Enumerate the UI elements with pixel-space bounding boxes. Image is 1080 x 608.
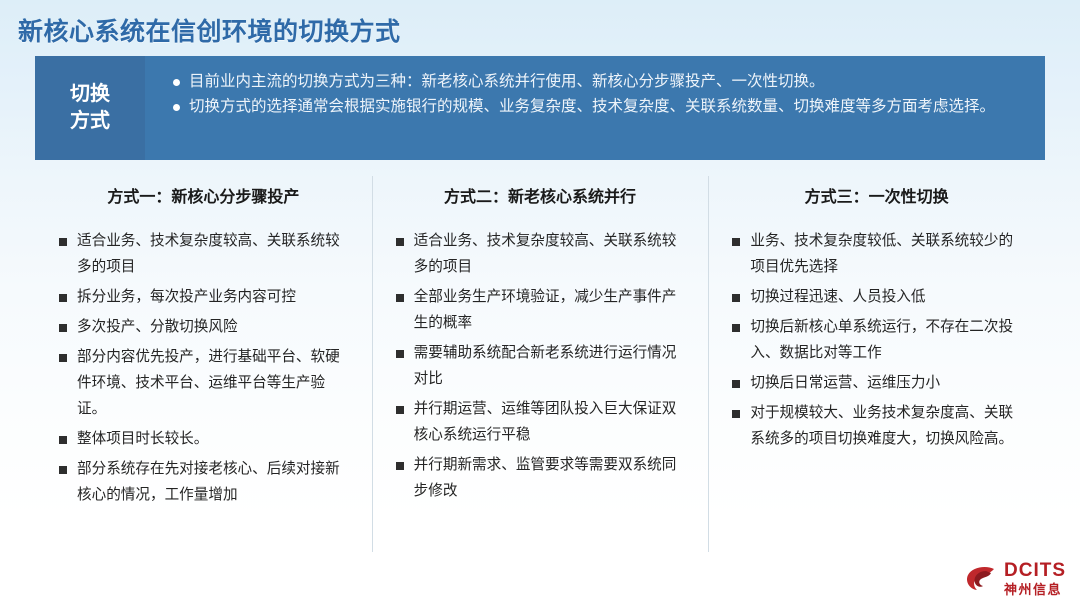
logo-name-cn: 神州信息 [1004,583,1066,596]
list-item: 切换后日常运营、运维压力小 [732,371,1027,397]
bullet-square-icon [59,466,67,474]
banner-bullet-text: 切换方式的选择通常会根据实施银行的规模、业务复杂度、技术复杂度、关联系统数量、切… [189,95,1025,119]
method-column-2: 方式二：新老核心系统并行 适合业务、技术复杂度较高、关联系统较多的项目 全部业务… [372,176,709,556]
column-bullet-list: 适合业务、技术复杂度较高、关联系统较多的项目 拆分业务，每次投产业务内容可控 多… [49,229,358,509]
bullet-square-icon [396,406,404,414]
list-item: 需要辅助系统配合新老系统进行运行情况对比 [396,341,691,393]
banner-bullet-text: 目前业内主流的切换方式为三种：新老核心系统并行使用、新核心分步骤投产、一次性切换… [189,70,1025,94]
bullet-dot-icon [173,104,180,111]
list-item: 部分系统存在先对接老核心、后续对接新核心的情况，工作量增加 [59,457,354,509]
list-item-text: 多次投产、分散切换风险 [77,315,354,341]
list-item: 业务、技术复杂度较低、关联系统较少的项目优先选择 [732,229,1027,281]
list-item-text: 部分系统存在先对接老核心、后续对接新核心的情况，工作量增加 [77,457,354,509]
bullet-square-icon [396,350,404,358]
list-item-text: 部分内容优先投产，进行基础平台、软硬件环境、技术平台、运维平台等生产验证。 [77,345,354,423]
bullet-square-icon [59,294,67,302]
column-heading: 方式一：新核心分步骤投产 [49,176,358,229]
column-bullet-list: 适合业务、技术复杂度较高、关联系统较多的项目 全部业务生产环境验证，减少生产事件… [386,229,695,505]
method-column-1: 方式一：新核心分步骤投产 适合业务、技术复杂度较高、关联系统较多的项目 拆分业务… [35,176,372,556]
methods-columns: 方式一：新核心分步骤投产 适合业务、技术复杂度较高、关联系统较多的项目 拆分业务… [35,176,1045,556]
list-item-text: 并行期新需求、监管要求等需要双系统同步修改 [414,453,691,505]
list-item-text: 切换过程迅速、人员投入低 [750,285,1027,311]
bullet-square-icon [396,294,404,302]
list-item-text: 适合业务、技术复杂度较高、关联系统较多的项目 [414,229,691,281]
list-item: 并行期运营、运维等团队投入巨大保证双核心系统运行平稳 [396,397,691,449]
banner-label: 切换 方式 [35,56,145,160]
list-item: 部分内容优先投产，进行基础平台、软硬件环境、技术平台、运维平台等生产验证。 [59,345,354,423]
list-item-text: 整体项目时长较长。 [77,427,354,453]
bullet-square-icon [732,380,740,388]
banner-bullet-item: 目前业内主流的切换方式为三种：新老核心系统并行使用、新核心分步骤投产、一次性切换… [173,70,1025,94]
banner-label-line-2: 方式 [70,108,110,135]
logo-name-en: DCITS [1004,561,1066,580]
bullet-square-icon [732,324,740,332]
column-heading: 方式三：一次性切换 [722,176,1031,229]
list-item-text: 业务、技术复杂度较低、关联系统较少的项目优先选择 [750,229,1027,281]
list-item-text: 切换后日常运营、运维压力小 [750,371,1027,397]
list-item: 拆分业务，每次投产业务内容可控 [59,285,354,311]
list-item-text: 并行期运营、运维等团队投入巨大保证双核心系统运行平稳 [414,397,691,449]
bullet-square-icon [396,462,404,470]
bullet-square-icon [396,238,404,246]
list-item: 切换过程迅速、人员投入低 [732,285,1027,311]
switch-method-banner: 切换 方式 目前业内主流的切换方式为三种：新老核心系统并行使用、新核心分步骤投产… [35,56,1045,160]
list-item: 全部业务生产环境验证，减少生产事件产生的概率 [396,285,691,337]
method-column-3: 方式三：一次性切换 业务、技术复杂度较低、关联系统较少的项目优先选择 切换过程迅… [708,176,1045,556]
list-item-text: 切换后新核心单系统运行，不存在二次投入、数据比对等工作 [750,315,1027,367]
bullet-square-icon [732,238,740,246]
bullet-square-icon [59,436,67,444]
list-item: 多次投产、分散切换风险 [59,315,354,341]
banner-label-line-1: 切换 [70,81,110,108]
list-item: 切换后新核心单系统运行，不存在二次投入、数据比对等工作 [732,315,1027,367]
column-heading: 方式二：新老核心系统并行 [386,176,695,229]
list-item-text: 适合业务、技术复杂度较高、关联系统较多的项目 [77,229,354,281]
column-bullet-list: 业务、技术复杂度较低、关联系统较少的项目优先选择 切换过程迅速、人员投入低 切换… [722,229,1031,453]
bullet-square-icon [59,324,67,332]
banner-body: 目前业内主流的切换方式为三种：新老核心系统并行使用、新核心分步骤投产、一次性切换… [145,56,1045,160]
list-item-text: 需要辅助系统配合新老系统进行运行情况对比 [414,341,691,393]
list-item-text: 对于规模较大、业务技术复杂度高、关联系统多的项目切换难度大，切换风险高。 [750,401,1027,453]
page-title: 新核心系统在信创环境的切换方式 [18,12,401,48]
bullet-dot-icon [173,79,180,86]
logo-wordmark: DCITS 神州信息 [1004,561,1066,596]
list-item: 适合业务、技术复杂度较高、关联系统较多的项目 [59,229,354,281]
banner-bullet-item: 切换方式的选择通常会根据实施银行的规模、业务复杂度、技术复杂度、关联系统数量、切… [173,95,1025,119]
list-item: 对于规模较大、业务技术复杂度高、关联系统多的项目切换难度大，切换风险高。 [732,401,1027,453]
list-item: 并行期新需求、监管要求等需要双系统同步修改 [396,453,691,505]
list-item-text: 全部业务生产环境验证，减少生产事件产生的概率 [414,285,691,337]
list-item: 适合业务、技术复杂度较高、关联系统较多的项目 [396,229,691,281]
bullet-square-icon [59,354,67,362]
list-item: 整体项目时长较长。 [59,427,354,453]
bullet-square-icon [59,238,67,246]
bullet-square-icon [732,294,740,302]
company-logo: DCITS 神州信息 [964,561,1066,596]
bullet-square-icon [732,410,740,418]
dcits-swirl-icon [964,562,998,596]
list-item-text: 拆分业务，每次投产业务内容可控 [77,285,354,311]
